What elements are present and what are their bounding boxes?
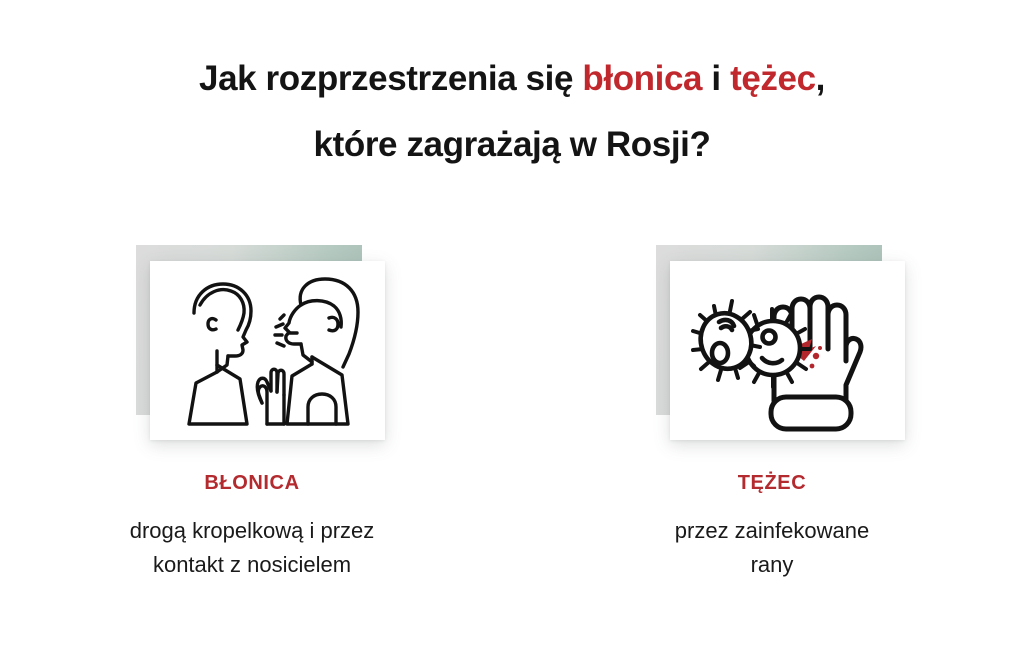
card-text-line-2: kontakt z nosicielem: [12, 548, 492, 582]
page-title: Jak rozprzestrzenia się błonica i tężec,…: [0, 46, 1024, 178]
card-text-line-1: przez zainfekowane: [532, 514, 1012, 548]
card-column-tezec: TĘŻEC przez zainfekowane rany: [532, 240, 1012, 445]
card-stack-tezec: [532, 240, 1012, 445]
two-people-coughing-droplets-illustration: [150, 261, 385, 440]
card-text-tezec: przez zainfekowane rany: [532, 514, 1012, 582]
title-text-after: ,: [816, 59, 825, 98]
cards-container: BŁONICA drogą kropelkową i przez kontakt…: [0, 240, 1024, 620]
title-text-before: Jak rozprzestrzenia się: [199, 59, 582, 98]
card-front-tezec[interactable]: [670, 261, 905, 440]
page-title-line-2: które zagrażają w Rosji?: [0, 112, 1024, 178]
page-title-line-1: Jak rozprzestrzenia się błonica i tężec,: [0, 46, 1024, 112]
card-text-line-2: rany: [532, 548, 1012, 582]
card-text-line-1: drogą kropelkową i przez: [12, 514, 492, 548]
caption-tezec: TĘŻEC przez zainfekowane rany: [532, 472, 1012, 582]
caption-blonica: BŁONICA drogą kropelkową i przez kontakt…: [12, 472, 492, 582]
card-stack-blonica: [12, 240, 492, 445]
title-accent-blonica: błonica: [582, 59, 702, 98]
hand-with-wound-and-bacteria-illustration: [670, 261, 905, 440]
card-column-blonica: BŁONICA drogą kropelkową i przez kontakt…: [12, 240, 492, 445]
title-accent-tezec: tężec: [730, 59, 816, 98]
card-text-blonica: drogą kropelkową i przez kontakt z nosic…: [12, 514, 492, 582]
title-text-middle: i: [702, 59, 730, 98]
card-front-blonica[interactable]: [150, 261, 385, 440]
card-title-blonica: BŁONICA: [12, 472, 492, 494]
card-title-tezec: TĘŻEC: [532, 472, 1012, 494]
